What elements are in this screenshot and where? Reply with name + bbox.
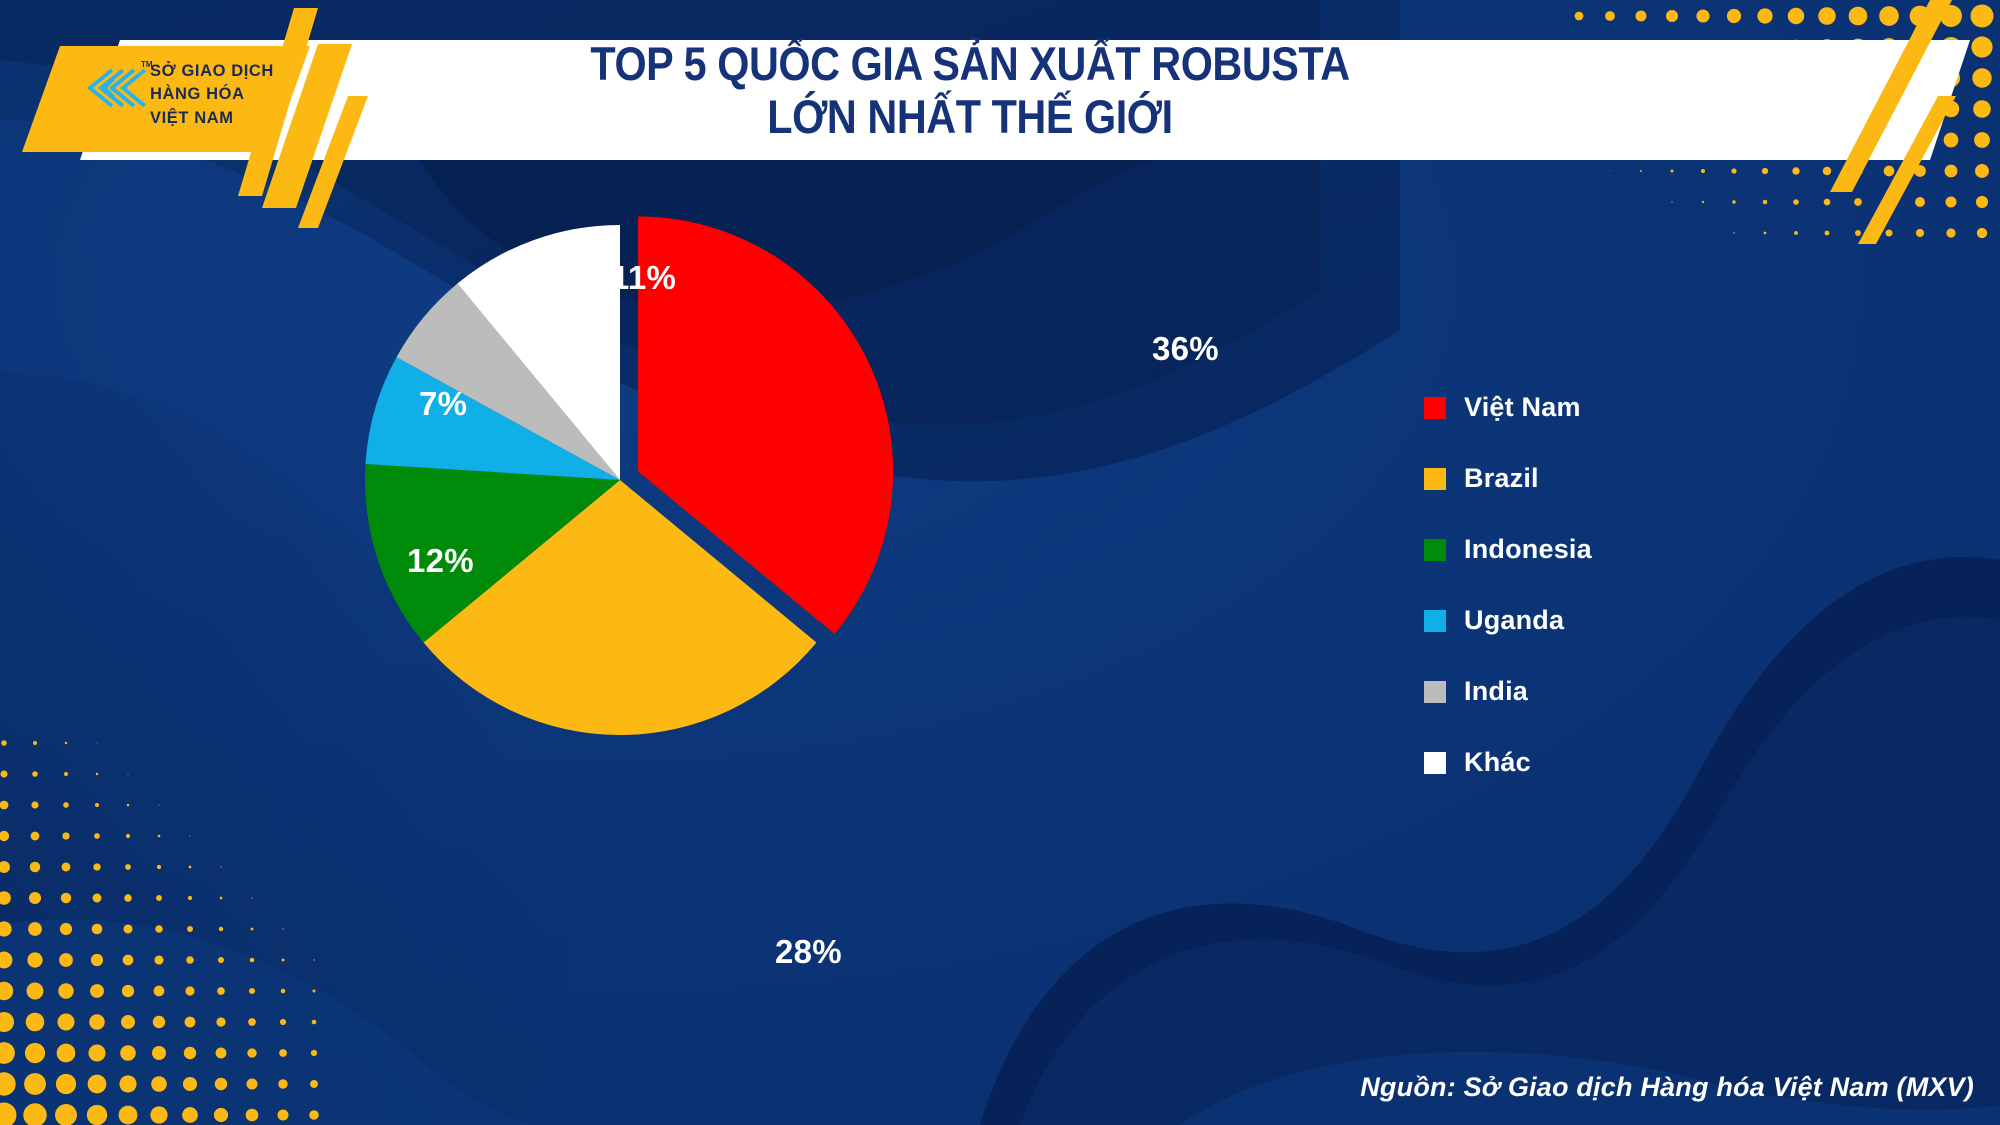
legend-item-indonesia[interactable]: Indonesia [1424,514,1824,585]
logo-line-3: VIỆT NAM [150,107,274,130]
legend-label: Uganda [1464,605,1564,636]
pie-label-1: 28% [775,933,842,971]
page-title: TOP 5 QUỐC GIA SẢN XUẤT ROBUSTA LỚN NHẤT… [530,38,1410,143]
legend-swatch-icon [1424,752,1446,774]
pie-label-0: 36% [1152,330,1219,368]
legend-item-uganda[interactable]: Uganda [1424,585,1824,656]
legend-swatch-icon [1424,539,1446,561]
legend-label: Brazil [1464,463,1539,494]
pie-label-2: 12% [407,542,474,580]
logo-wordmark: SỞ GIAO DỊCH HÀNG HÓA VIỆT NAM [150,60,274,130]
pie-label-3: 7% [419,385,467,423]
legend-item-india[interactable]: India [1424,656,1824,727]
legend-item-việt-nam[interactable]: Việt Nam [1424,372,1824,443]
legend-swatch-icon [1424,610,1446,632]
legend-item-khác[interactable]: Khác [1424,727,1824,798]
title-line-2: LỚN NHẤT THẾ GIỚI [530,91,1410,144]
pie-label-5: 11% [611,259,676,297]
source-note: Nguồn: Sở Giao dịch Hàng hóa Việt Nam (M… [1360,1072,1974,1103]
legend-label: Indonesia [1464,534,1592,565]
logo-line-1: SỞ GIAO DỊCH [150,60,274,83]
legend-item-brazil[interactable]: Brazil [1424,443,1824,514]
logo-line-2: HÀNG HÓA [150,83,274,106]
title-line-1: TOP 5 QUỐC GIA SẢN XUẤT ROBUSTA [530,38,1410,91]
legend-swatch-icon [1424,681,1446,703]
legend-label: Khác [1464,747,1531,778]
chart-legend: Việt NamBrazilIndonesiaUgandaIndiaKhác [1424,372,1824,798]
legend-label: India [1464,676,1528,707]
legend-swatch-icon [1424,468,1446,490]
pie-label-4: 6% [486,279,534,317]
infographic-canvas: TM SỞ GIAO DỊCH HÀNG HÓA VIỆT NAM TOP 5 … [0,0,2000,1125]
legend-swatch-icon [1424,397,1446,419]
legend-label: Việt Nam [1464,392,1581,423]
mxv-logo-mark [78,66,146,110]
